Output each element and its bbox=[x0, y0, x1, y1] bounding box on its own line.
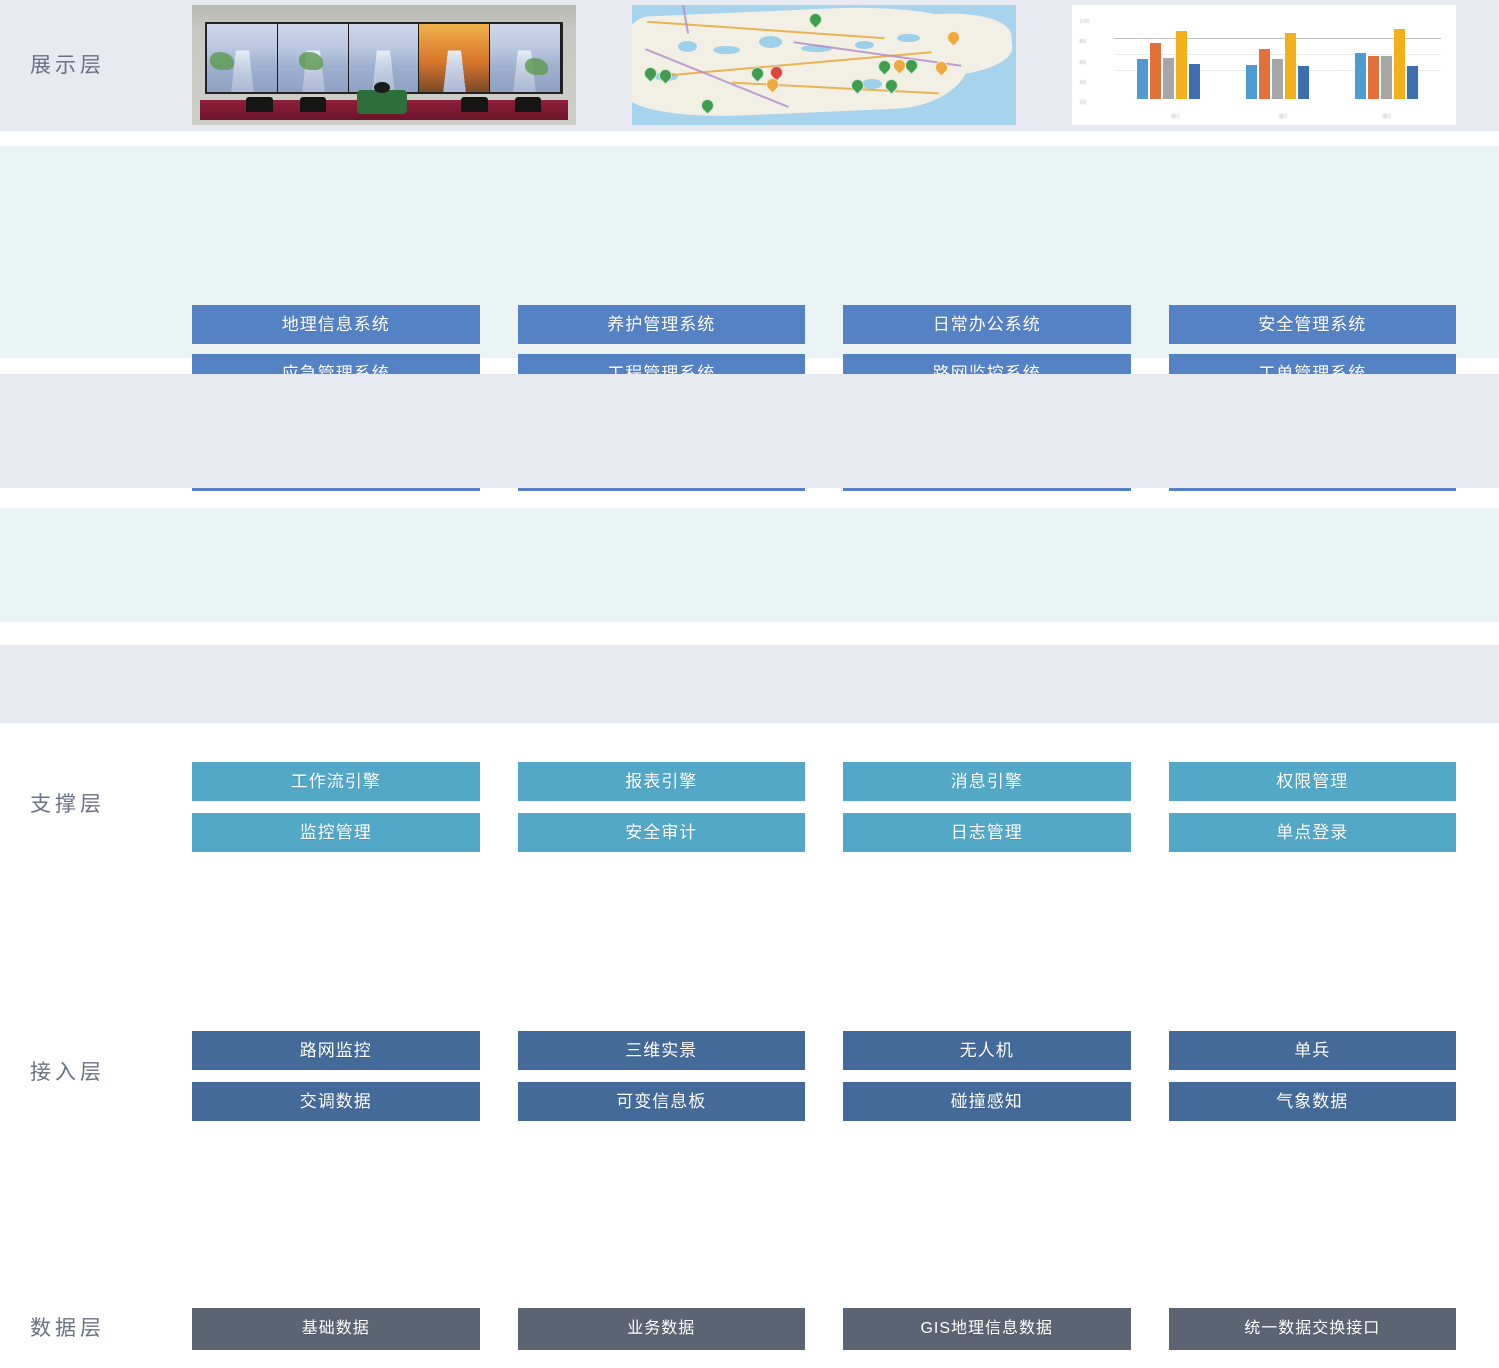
business-box[interactable]: 养护管理系统 bbox=[518, 305, 806, 344]
access-box[interactable]: 碰撞感知 bbox=[843, 1082, 1131, 1121]
control-room-video-wall-image bbox=[192, 5, 576, 125]
business-box[interactable]: 地理信息系统 bbox=[192, 305, 480, 344]
access-box[interactable]: 单兵 bbox=[1169, 1031, 1457, 1070]
data-box[interactable]: GIS地理信息数据 bbox=[843, 1308, 1131, 1350]
data-store-grid: 基础数据业务数据GIS地理信息数据统一数据交换接口 bbox=[192, 1308, 1456, 1350]
chart-bar bbox=[1150, 43, 1161, 98]
layer-label-presentation: 展示层 bbox=[0, 0, 180, 131]
support-box[interactable]: 监控管理 bbox=[192, 813, 480, 852]
support-box[interactable]: 安全审计 bbox=[518, 813, 806, 852]
chart-bar-group bbox=[1246, 22, 1309, 99]
layer-band-business: 业务层 地理信息系统养护管理系统日常办公系统安全管理系统应急管理系统工程管理系统… bbox=[0, 146, 1499, 358]
operator-chair bbox=[461, 97, 488, 111]
operator-chair bbox=[300, 97, 327, 111]
layer-label-access: 接入层 bbox=[0, 1016, 180, 1130]
business-box[interactable]: 安全管理系统 bbox=[1169, 305, 1457, 344]
support-box[interactable]: 消息引擎 bbox=[843, 762, 1131, 801]
chart-ytick: 80 bbox=[1080, 39, 1087, 45]
data-box[interactable]: 统一数据交换接口 bbox=[1169, 1308, 1457, 1350]
map-lake bbox=[862, 79, 881, 89]
support-component-grid: 工作流引擎报表引擎消息引擎权限管理监控管理安全审计日志管理单点登录 bbox=[192, 762, 1456, 852]
data-box[interactable]: 业务数据 bbox=[518, 1308, 806, 1350]
business-box[interactable]: 日常办公系统 bbox=[843, 305, 1131, 344]
chart-bar bbox=[1259, 49, 1270, 98]
layer-band-presentation: 展示层 bbox=[0, 0, 1499, 131]
operator-chair bbox=[515, 97, 542, 111]
chart-xtick: 组3 bbox=[1382, 113, 1391, 120]
chart-xtick: 组1 bbox=[1171, 113, 1180, 120]
support-box[interactable]: 日志管理 bbox=[843, 813, 1131, 852]
chart-ytick: 40 bbox=[1080, 80, 1087, 86]
map-lake bbox=[678, 41, 697, 52]
map-lake bbox=[713, 46, 740, 54]
chart-bar bbox=[1285, 33, 1296, 99]
chart-ytick: 20 bbox=[1080, 100, 1087, 106]
layer-label-support: 支撑层 bbox=[0, 748, 180, 862]
support-box[interactable]: 单点登录 bbox=[1169, 813, 1457, 852]
video-wall-screen bbox=[419, 24, 490, 92]
access-box[interactable]: 三维实景 bbox=[518, 1031, 806, 1070]
chart-bar bbox=[1381, 56, 1392, 99]
architecture-diagram: 展示层 bbox=[0, 0, 1499, 723]
chart-bar bbox=[1355, 53, 1366, 99]
chart-bar-groups bbox=[1114, 22, 1440, 99]
access-source-grid: 路网监控三维实景无人机单兵交调数据可变信息板碰撞感知气象数据 bbox=[192, 1031, 1456, 1121]
layer-band-data: 数据层 基础数据业务数据GIS地理信息数据统一数据交换接口 bbox=[0, 645, 1499, 723]
chart-bar-group bbox=[1137, 22, 1200, 99]
access-box[interactable]: 路网监控 bbox=[192, 1031, 480, 1070]
chart-bar bbox=[1272, 59, 1283, 99]
support-box[interactable]: 报表引擎 bbox=[518, 762, 806, 801]
chart-bar bbox=[1137, 59, 1148, 99]
chart-bar bbox=[1394, 29, 1405, 98]
chart-bar bbox=[1176, 31, 1187, 99]
chart-bar bbox=[1246, 65, 1257, 99]
chart-bar bbox=[1298, 66, 1309, 99]
video-wall-screen bbox=[490, 24, 561, 92]
chart-ytick: 100 bbox=[1080, 19, 1090, 25]
map-lake bbox=[897, 34, 920, 42]
operator-chair bbox=[246, 97, 273, 111]
access-box[interactable]: 无人机 bbox=[843, 1031, 1131, 1070]
gis-road-network-map-image bbox=[632, 5, 1016, 125]
chart-bar bbox=[1163, 58, 1174, 99]
statistics-bar-chart-image: 100 80 60 40 20 组1 组2 组3 bbox=[1072, 5, 1456, 125]
support-box[interactable]: 权限管理 bbox=[1169, 762, 1457, 801]
chart-bar bbox=[1368, 56, 1379, 99]
support-box[interactable]: 工作流引擎 bbox=[192, 762, 480, 801]
chart-ytick: 60 bbox=[1080, 60, 1087, 66]
access-box[interactable]: 气象数据 bbox=[1169, 1082, 1457, 1121]
access-box[interactable]: 可变信息板 bbox=[518, 1082, 806, 1121]
chart-bar-group bbox=[1355, 22, 1418, 99]
operator-figure bbox=[357, 90, 407, 114]
video-wall-screen bbox=[207, 24, 278, 92]
map-lake bbox=[759, 36, 782, 48]
chart-plot-area bbox=[1114, 22, 1440, 99]
chart-bar bbox=[1189, 64, 1200, 99]
layer-band-access: 接入层 路网监控三维实景无人机单兵交调数据可变信息板碰撞感知气象数据 bbox=[0, 508, 1499, 622]
chart-xtick: 组2 bbox=[1279, 113, 1288, 120]
access-box[interactable]: 交调数据 bbox=[192, 1082, 480, 1121]
video-wall-screen bbox=[278, 24, 349, 92]
data-box[interactable]: 基础数据 bbox=[192, 1308, 480, 1350]
chart-bar bbox=[1407, 66, 1418, 98]
layer-band-support: 支撑层 工作流引擎报表引擎消息引擎权限管理监控管理安全审计日志管理单点登录 bbox=[0, 374, 1499, 488]
layer-label-data: 数据层 bbox=[0, 1290, 180, 1368]
